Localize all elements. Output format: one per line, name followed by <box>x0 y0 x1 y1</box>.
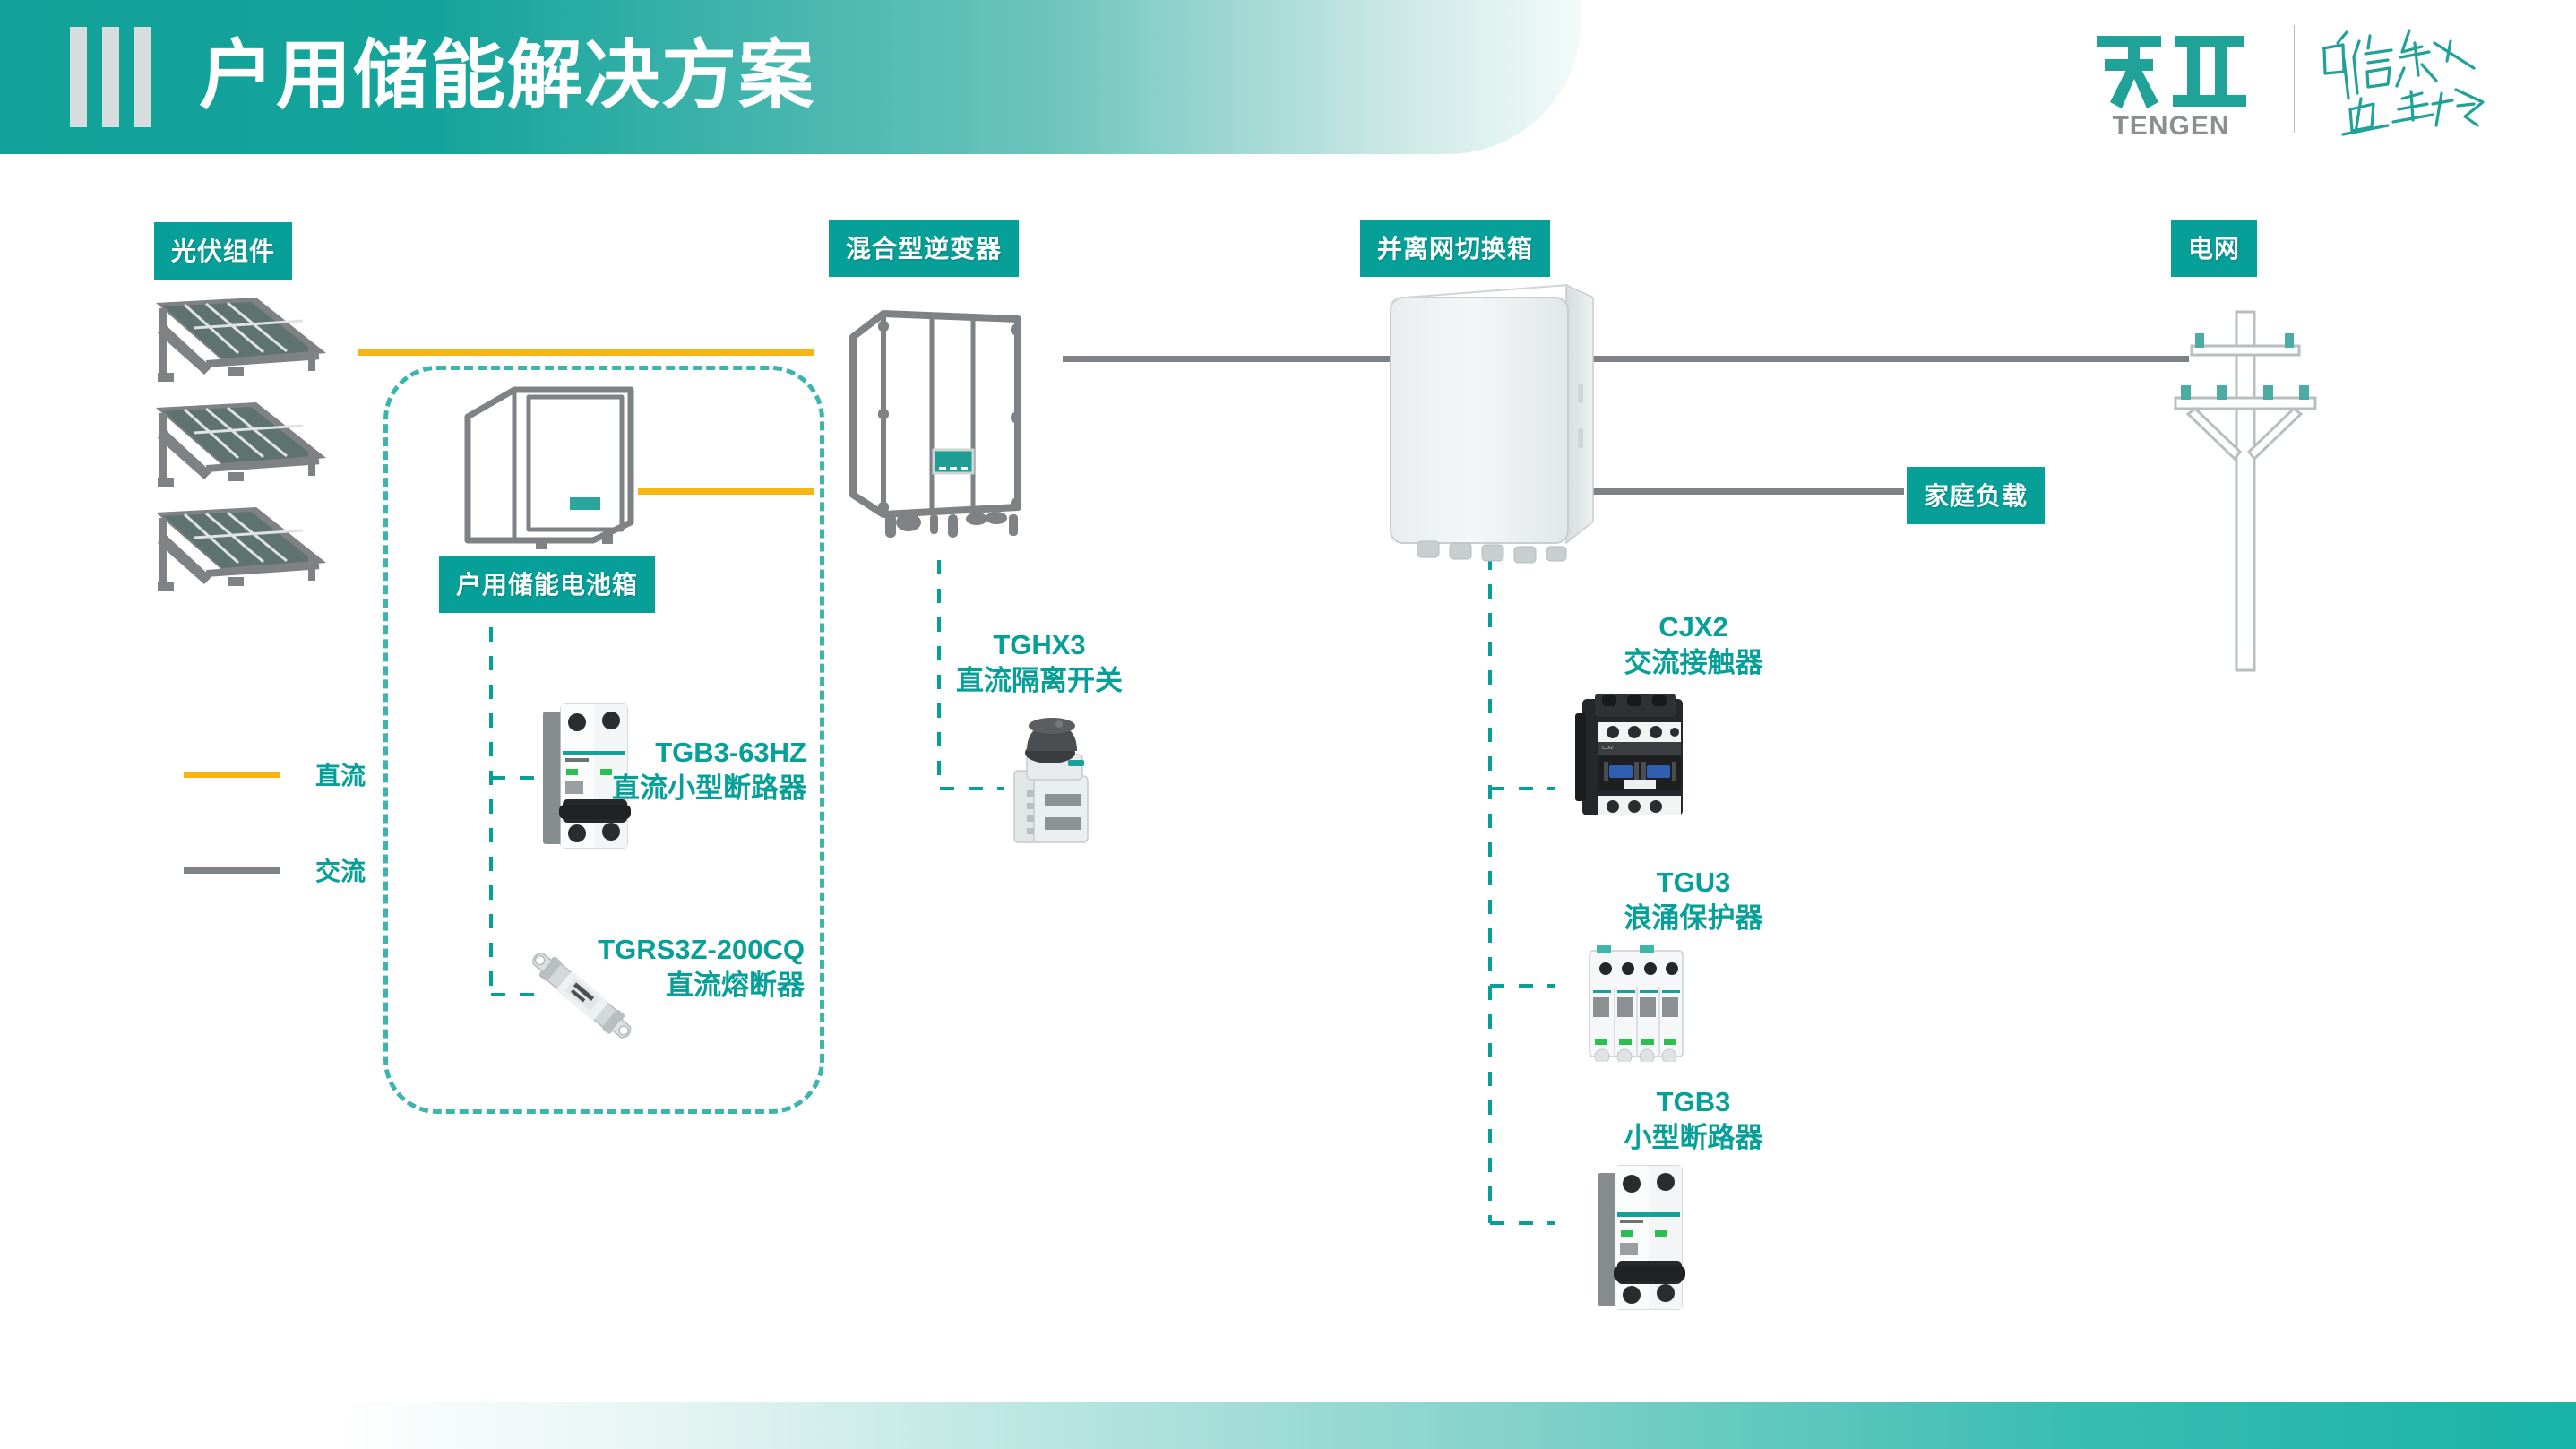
callout-cjx2: CJX2 交流接触器 <box>1550 609 1837 681</box>
solar-panel-icon-2 <box>151 401 330 499</box>
hybrid-inverter-icon <box>833 303 1066 554</box>
callout-desc-cjx2: 交流接触器 <box>1550 645 1837 681</box>
callout-tgu3: TGU3 浪涌保护器 <box>1550 865 1837 936</box>
svg-text:CJX2: CJX2 <box>1602 746 1613 751</box>
legend-swatch-ac <box>184 867 280 874</box>
callout-tgb3: TGB3 小型断路器 <box>1550 1084 1837 1156</box>
tghx3-product-image <box>995 708 1111 851</box>
callout-model-tgu3: TGU3 <box>1550 865 1837 901</box>
callout-desc-tgb3: 小型断路器 <box>1550 1120 1837 1156</box>
callout-desc-tgu3: 浪涌保护器 <box>1550 901 1837 936</box>
callout-tgb3-63hz: TGB3-63HZ 直流小型断路器 <box>376 735 806 806</box>
callout-model-tgb3-63hz: TGB3-63HZ <box>376 735 806 771</box>
three-bars-icon <box>70 27 151 127</box>
brand-logo: TENGEN <box>2074 0 2576 154</box>
callout-tgrs3z-200cq: TGRS3Z-200CQ 直流熔断器 <box>358 932 805 1004</box>
logo-divider <box>2294 25 2295 133</box>
legend: 直流 交流 <box>184 755 366 890</box>
section-label-inverter: 混合型逆变器 <box>829 220 1019 277</box>
section-label-grid: 电网 <box>2171 220 2257 277</box>
solar-panel-icon-1 <box>151 296 330 394</box>
brand-tagline-handwriting-icon <box>2316 16 2522 142</box>
wire-inverter-to-switchbox-ac <box>1063 356 1397 362</box>
utility-pole-icon <box>2168 296 2321 672</box>
switch-box-enclosure-icon <box>1378 278 1602 565</box>
callout-desc-tghx3: 直流隔离开关 <box>896 663 1183 699</box>
tgu3-product-image <box>1577 945 1693 1062</box>
page-header: 户用储能解决方案 <box>0 0 1581 154</box>
wire-switchbox-to-homeload-ac <box>1589 488 1904 495</box>
section-label-pv: 光伏组件 <box>154 222 292 280</box>
tgb3-product-image <box>1590 1160 1691 1317</box>
legend-item-ac: 交流 <box>184 850 366 890</box>
solar-panel-icon-3 <box>151 505 330 604</box>
callout-desc-tgb3-63hz: 直流小型断路器 <box>376 771 806 806</box>
section-label-switch-box: 并离网切换箱 <box>1360 220 1550 277</box>
callout-model-cjx2: CJX2 <box>1550 609 1837 645</box>
cjx2-product-image: CJX2 <box>1568 690 1698 824</box>
legend-swatch-dc <box>184 772 280 778</box>
svg-text:TENGEN: TENGEN <box>2112 111 2229 141</box>
legend-label-ac: 交流 <box>315 852 366 888</box>
bottom-accent-bar <box>0 1402 2576 1449</box>
wire-pv-to-inverter-dc <box>358 349 814 356</box>
callout-desc-tgrs3z-200cq: 直流熔断器 <box>358 968 805 1004</box>
callout-model-tgb3: TGB3 <box>1550 1084 1837 1120</box>
callout-tghx3: TGHX3 直流隔离开关 <box>896 627 1183 699</box>
page-title: 户用储能解决方案 <box>199 20 815 131</box>
callout-model-tgrs3z-200cq: TGRS3Z-200CQ <box>358 932 805 968</box>
section-label-home-load: 家庭负载 <box>1907 467 2045 524</box>
solution-diagram-page: 户用储能解决方案 TENGEN <box>0 0 2576 1449</box>
legend-label-dc: 直流 <box>315 756 366 792</box>
wire-switchbox-to-grid-ac <box>1589 356 2189 362</box>
callout-model-tghx3: TGHX3 <box>896 627 1183 663</box>
battery-cabinet-icon <box>459 381 638 556</box>
legend-item-dc: 直流 <box>184 755 366 794</box>
tengen-logo-icon: TENGEN <box>2092 16 2271 142</box>
